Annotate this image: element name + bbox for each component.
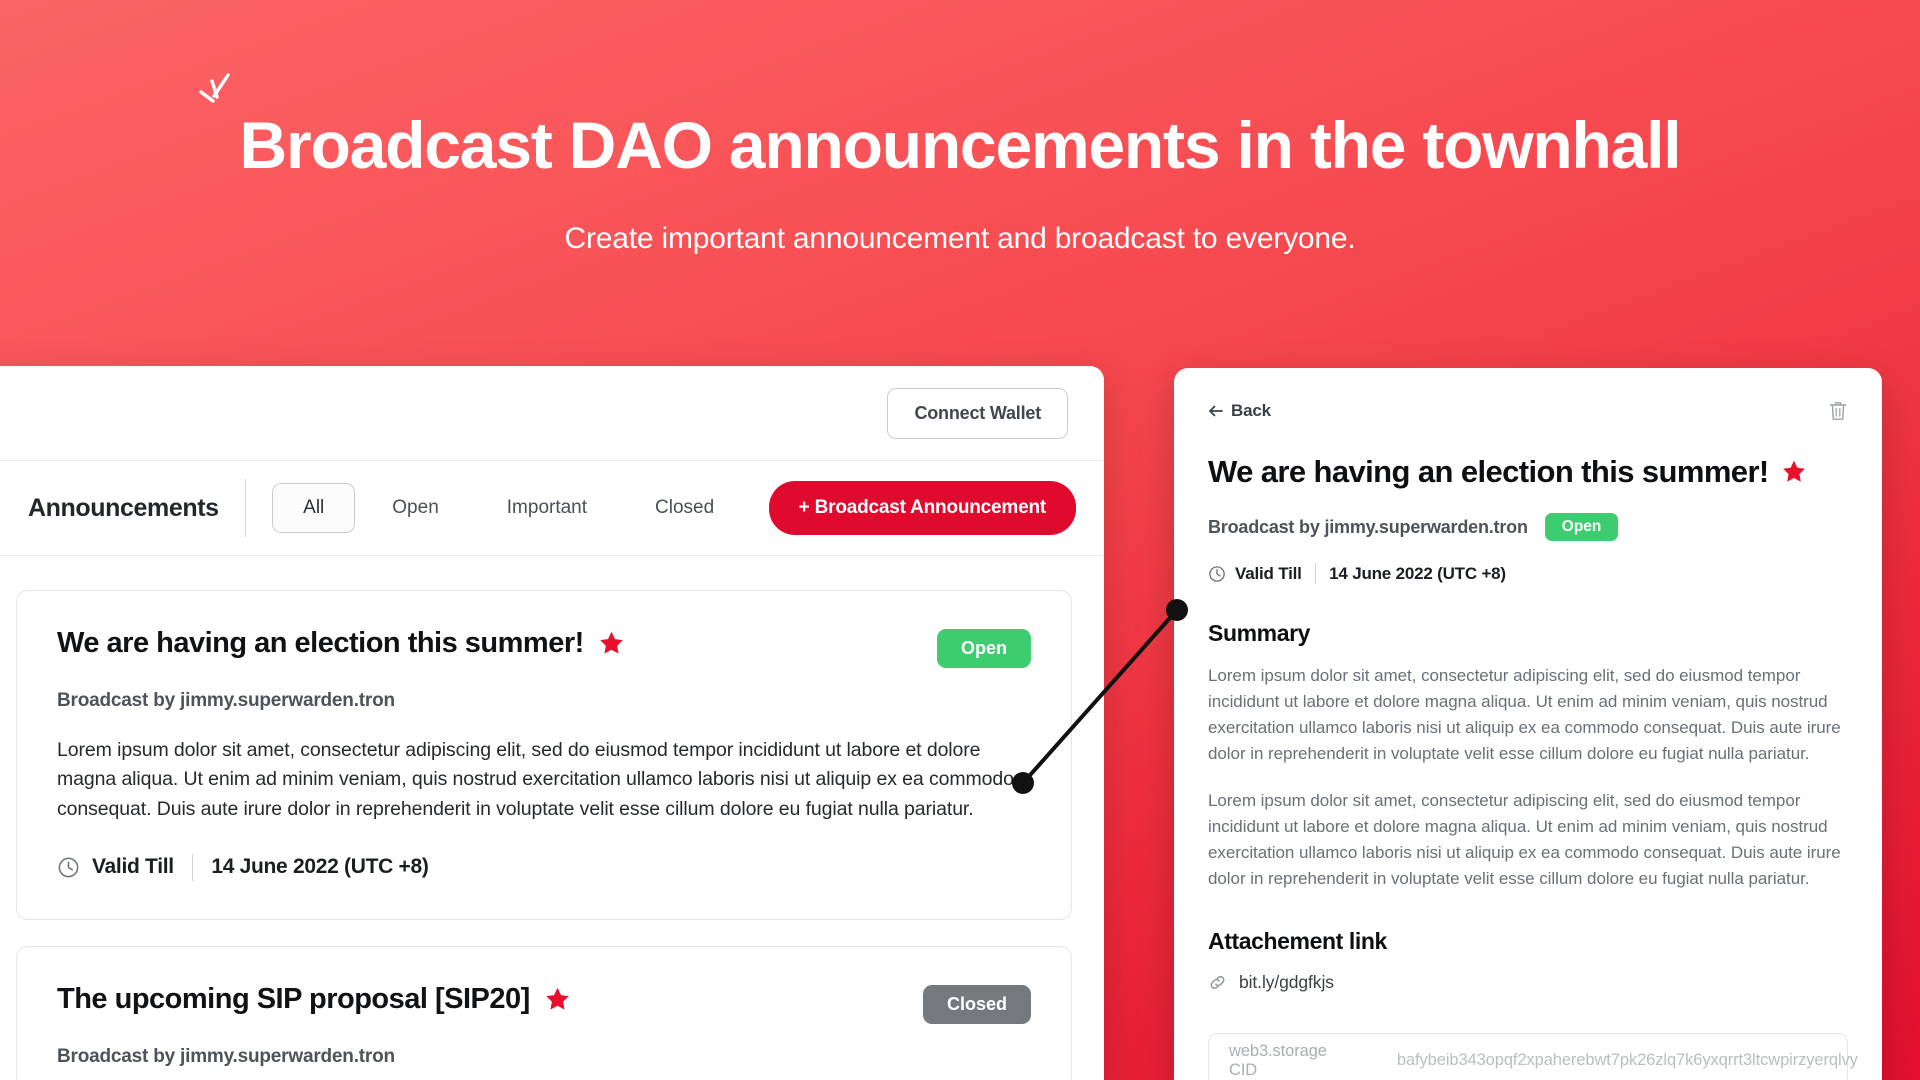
announcement-card[interactable]: We are having an election this summer! O… (16, 590, 1072, 920)
broadcast-announcement-button[interactable]: + Broadcast Announcement (769, 481, 1076, 535)
star-icon (1781, 459, 1807, 485)
card-valid-till: Valid Till 14 June 2022 (UTC +8) (57, 854, 1031, 881)
divider (192, 854, 194, 881)
valid-till-value: 14 June 2022 (UTC +8) (1329, 564, 1506, 584)
attachment-heading: Attachement link (1208, 928, 1848, 955)
detail-title-row: We are having an election this summer! (1208, 455, 1848, 489)
back-button[interactable]: Back (1208, 401, 1271, 421)
announcement-list: We are having an election this summer! O… (0, 556, 1104, 1080)
valid-till-label: Valid Till (92, 855, 174, 879)
announcements-panel: Connect Wallet Announcements All Open Im… (0, 366, 1104, 1080)
hero-title-wrap: Broadcast DAO announcements in the townh… (240, 112, 1681, 178)
hero-banner: Broadcast DAO announcements in the townh… (0, 0, 1920, 368)
tab-open[interactable]: Open (361, 483, 469, 533)
cid-value: bafybeib343opqf2xpaherebwt7pk26zlq7k6yxq… (1397, 1051, 1858, 1070)
status-badge: Open (937, 629, 1031, 668)
star-icon (544, 986, 571, 1013)
cid-field[interactable]: web3.storage CID bafybeib343opqf2xpahere… (1208, 1033, 1848, 1080)
detail-broadcast-by: Broadcast by jimmy.superwarden.tron (1208, 517, 1528, 538)
card-broadcast-by: Broadcast by jimmy.superwarden.tron (57, 1046, 1031, 1068)
link-icon (1208, 973, 1227, 992)
valid-till-label: Valid Till (1235, 564, 1302, 584)
panel-tabbar: Announcements All Open Important Closed … (0, 460, 1104, 556)
card-title-row: We are having an election this summer! (57, 627, 625, 660)
detail-broadcast-row: Broadcast by jimmy.superwarden.tron Open (1208, 513, 1848, 541)
cid-label: web3.storage CID (1229, 1042, 1327, 1080)
attachment-link-text: bit.ly/gdgfkjs (1239, 972, 1334, 993)
trash-icon[interactable] (1828, 400, 1848, 422)
card-title: The upcoming SIP proposal [SIP20] (57, 983, 530, 1016)
announcements-heading: Announcements (28, 494, 219, 523)
announcement-card[interactable]: The upcoming SIP proposal [SIP20] Closed… (16, 946, 1072, 1080)
tab-closed[interactable]: Closed (624, 483, 745, 533)
clock-icon (57, 856, 80, 879)
detail-topbar: Back (1208, 394, 1848, 428)
card-body-text: Lorem ipsum dolor sit amet, consectetur … (57, 736, 1031, 824)
card-title-row: The upcoming SIP proposal [SIP20] (57, 983, 571, 1016)
connect-wallet-button[interactable]: Connect Wallet (887, 388, 1068, 439)
sparkle-icon (198, 70, 250, 122)
tab-all[interactable]: All (272, 483, 355, 533)
back-label: Back (1231, 401, 1271, 421)
summary-heading: Summary (1208, 620, 1848, 647)
detail-valid-till: Valid Till 14 June 2022 (UTC +8) (1208, 563, 1848, 584)
detail-title: We are having an election this summer! (1208, 455, 1769, 489)
valid-till-value: 14 June 2022 (UTC +8) (211, 855, 428, 879)
card-title: We are having an election this summer! (57, 627, 584, 660)
divider (245, 479, 247, 537)
tab-important[interactable]: Important (476, 483, 618, 533)
divider (1315, 563, 1317, 584)
page-root: Broadcast DAO announcements in the townh… (0, 0, 1920, 1080)
summary-paragraph: Lorem ipsum dolor sit amet, consectetur … (1208, 788, 1848, 891)
summary-paragraph: Lorem ipsum dolor sit amet, consectetur … (1208, 663, 1848, 766)
attachment-link[interactable]: bit.ly/gdgfkjs (1208, 972, 1848, 993)
page-subtitle: Create important announcement and broadc… (0, 222, 1920, 256)
announcement-detail-panel: Back We are having an election this summ… (1174, 368, 1882, 1080)
arrow-left-icon (1208, 403, 1224, 419)
page-title: Broadcast DAO announcements in the townh… (240, 112, 1681, 178)
star-icon (598, 630, 625, 657)
filter-tabs: All Open Important Closed (272, 483, 745, 533)
card-header: We are having an election this summer! O… (57, 627, 1031, 668)
status-badge: Closed (923, 985, 1031, 1024)
status-badge: Open (1545, 513, 1619, 541)
panel-topbar: Connect Wallet (0, 366, 1104, 460)
card-broadcast-by: Broadcast by jimmy.superwarden.tron (57, 690, 1031, 712)
card-header: The upcoming SIP proposal [SIP20] Closed (57, 983, 1031, 1024)
clock-icon (1208, 565, 1226, 583)
